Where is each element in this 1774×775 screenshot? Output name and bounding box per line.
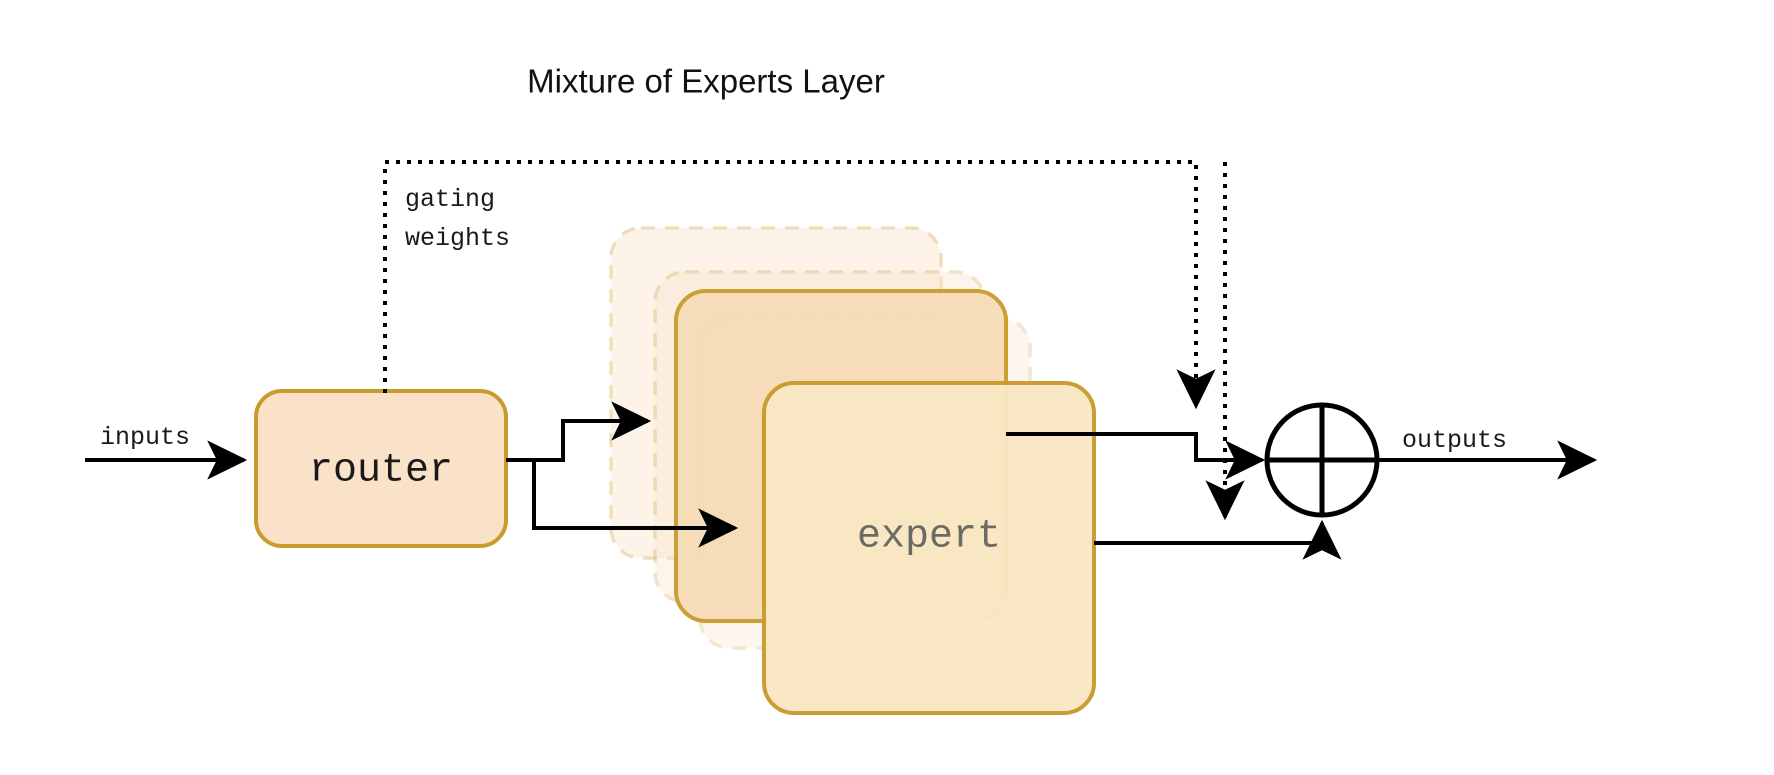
edge-expert-front-to-sum — [1094, 523, 1322, 543]
page-title: Mixture of Experts Layer — [527, 63, 885, 100]
router-label: router — [309, 449, 453, 494]
gating-weights-label-line2: weights — [405, 224, 510, 253]
inputs-label: inputs — [100, 423, 190, 452]
outputs-label: outputs — [1402, 426, 1507, 455]
moe-diagram: Mixture of Experts Layer expert router i… — [0, 0, 1774, 775]
gating-weights-label-line1: gating — [405, 185, 495, 214]
expert-label: expert — [857, 515, 1001, 560]
diagram-canvas: Mixture of Experts Layer expert router i… — [0, 0, 1774, 775]
